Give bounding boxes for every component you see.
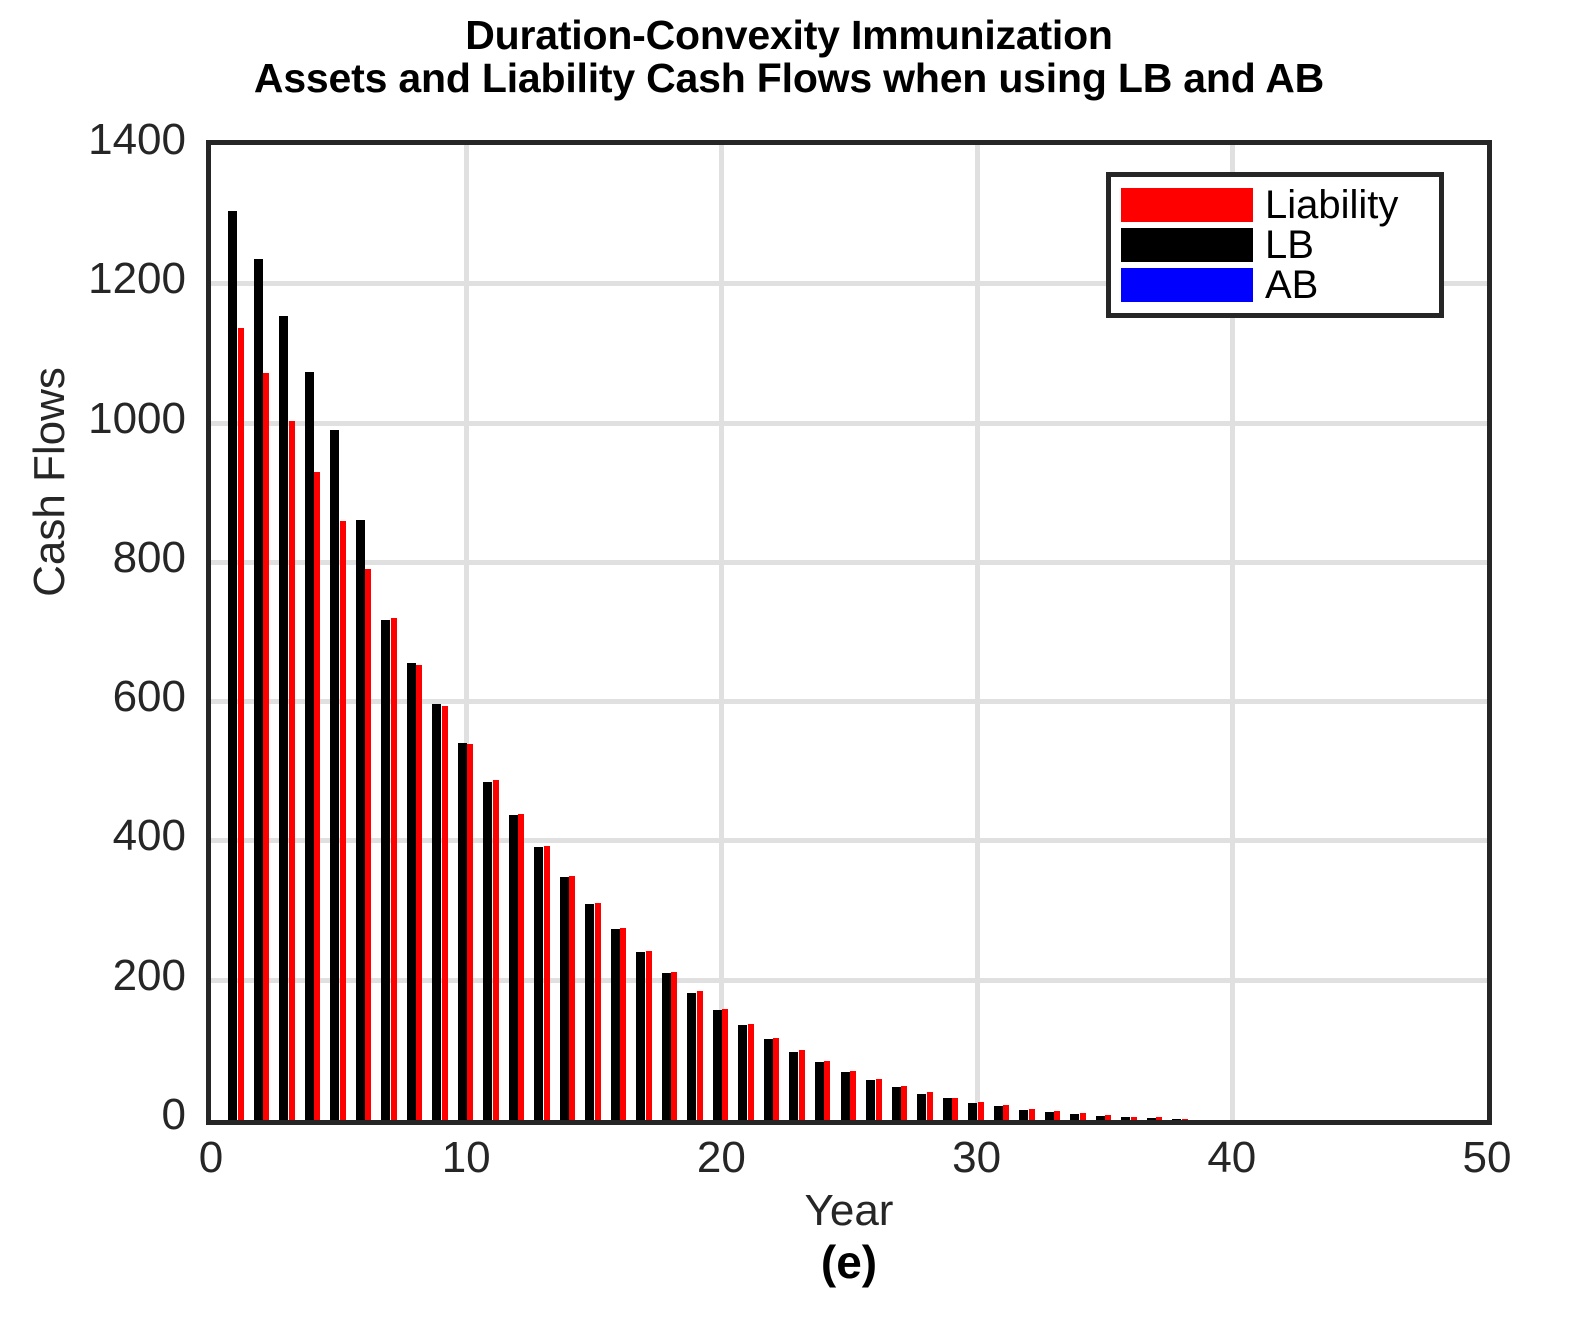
bar-liability [569, 876, 575, 1120]
bar-liability [1131, 1117, 1137, 1120]
bar-lb [356, 520, 365, 1120]
bar-liability [901, 1086, 907, 1120]
bar-liability [493, 780, 499, 1120]
bar-lb [994, 1106, 1003, 1120]
x-tick-label: 0 [131, 1133, 291, 1183]
bar-liability [671, 972, 677, 1120]
bar-liability [722, 1009, 728, 1120]
legend-label: Liability [1265, 185, 1398, 225]
chart-title-block: Duration-Convexity Immunization Assets a… [0, 14, 1578, 101]
gridline-horizontal [211, 560, 1487, 565]
bar-lb [279, 316, 288, 1120]
bar-liability [927, 1092, 933, 1120]
bar-liability [824, 1061, 830, 1120]
x-tick-label: 40 [1152, 1133, 1312, 1183]
bar-lb [636, 952, 645, 1120]
bar-liability [1003, 1105, 1009, 1120]
bar-liability [518, 814, 524, 1120]
bar-lb [943, 1098, 952, 1120]
bar-lb [1070, 1114, 1079, 1120]
x-tick-label: 10 [386, 1133, 546, 1183]
chart-figure: Duration-Convexity Immunization Assets a… [0, 0, 1578, 1318]
gridline-vertical [719, 145, 724, 1120]
bar-liability [773, 1038, 779, 1120]
bar-lb [509, 815, 518, 1120]
bar-liability [1054, 1111, 1060, 1120]
bar-liability [442, 706, 448, 1120]
bar-liability [595, 903, 601, 1120]
bar-liability [748, 1024, 754, 1120]
x-tick-label: 20 [641, 1133, 801, 1183]
x-tick-label: 50 [1407, 1133, 1567, 1183]
bar-liability [978, 1102, 984, 1120]
bar-lb [1096, 1116, 1105, 1120]
bar-lb [789, 1052, 798, 1120]
bar-lb [687, 993, 696, 1120]
chart-legend[interactable]: LiabilityLBAB [1106, 172, 1444, 318]
bar-lb [458, 743, 467, 1120]
bar-liability [1080, 1113, 1086, 1120]
bar-liability [289, 421, 295, 1120]
y-tick-label: 1000 [0, 394, 186, 444]
bar-lb [738, 1025, 747, 1120]
bar-lb [407, 663, 416, 1120]
x-tick-label: 30 [897, 1133, 1057, 1183]
bar-liability [391, 618, 397, 1120]
bar-liability [1182, 1119, 1188, 1120]
legend-item-ab[interactable]: AB [1121, 265, 1429, 305]
bar-lb [585, 904, 594, 1120]
y-tick-label: 1400 [0, 115, 186, 165]
bar-liability [646, 951, 652, 1120]
gridline-vertical [975, 145, 980, 1120]
bar-liability [544, 846, 550, 1120]
bar-liability [850, 1071, 856, 1120]
bar-lb [1045, 1112, 1054, 1120]
bar-lb [866, 1080, 875, 1120]
bar-liability [416, 665, 422, 1120]
y-tick-label: 800 [0, 533, 186, 583]
gridline-horizontal [211, 978, 1487, 983]
chart-subtitle: Assets and Liability Cash Flows when usi… [0, 57, 1578, 100]
bar-lb [305, 372, 314, 1120]
legend-swatch-ab [1121, 268, 1253, 302]
bar-liability [238, 328, 244, 1120]
y-axis-label: Cash Flows [25, 272, 75, 692]
figure-caption: (e) [206, 1235, 1492, 1289]
y-tick-label: 400 [0, 811, 186, 861]
bar-liability [1156, 1117, 1162, 1120]
bar-lb [1019, 1110, 1028, 1120]
bar-lb [560, 877, 569, 1120]
legend-item-liability[interactable]: Liability [1121, 185, 1429, 225]
gridline-horizontal [211, 699, 1487, 704]
y-tick-label: 1200 [0, 254, 186, 304]
bar-lb [381, 620, 390, 1120]
bar-liability [952, 1098, 958, 1120]
bar-lb [662, 973, 671, 1120]
bar-lb [892, 1087, 901, 1120]
bar-lb [611, 929, 620, 1120]
bar-lb [1147, 1118, 1156, 1120]
legend-swatch-liability [1121, 188, 1253, 222]
bar-liability [365, 569, 371, 1120]
gridline-horizontal [211, 421, 1487, 426]
bar-liability [340, 521, 346, 1120]
bar-liability [620, 928, 626, 1120]
bar-lb [534, 847, 543, 1120]
bar-liability [1105, 1115, 1111, 1120]
bar-lb [1172, 1119, 1181, 1120]
bar-liability [314, 472, 320, 1120]
bar-liability [263, 373, 269, 1120]
bar-lb [764, 1039, 773, 1120]
bar-lb [228, 211, 237, 1120]
legend-item-lb[interactable]: LB [1121, 225, 1429, 265]
bar-lb [254, 259, 263, 1120]
bar-lb [841, 1072, 850, 1120]
bar-lb [713, 1010, 722, 1120]
x-axis-label: Year [206, 1186, 1492, 1236]
y-tick-label: 200 [0, 951, 186, 1001]
bar-lb [483, 782, 492, 1120]
bar-liability [467, 744, 473, 1120]
legend-label: AB [1265, 265, 1318, 305]
y-tick-label: 600 [0, 672, 186, 722]
chart-title: Duration-Convexity Immunization [0, 14, 1578, 57]
gridline-horizontal [211, 838, 1487, 843]
bar-liability [876, 1079, 882, 1120]
bar-lb [815, 1062, 824, 1120]
legend-swatch-lb [1121, 228, 1253, 262]
bar-lb [432, 704, 441, 1120]
legend-label: LB [1265, 225, 1314, 265]
bar-liability [697, 991, 703, 1120]
bar-lb [917, 1094, 926, 1120]
bar-liability [1029, 1109, 1035, 1120]
bar-lb [1121, 1117, 1130, 1120]
bar-liability [799, 1050, 805, 1120]
bar-lb [330, 430, 339, 1120]
bar-lb [968, 1103, 977, 1120]
